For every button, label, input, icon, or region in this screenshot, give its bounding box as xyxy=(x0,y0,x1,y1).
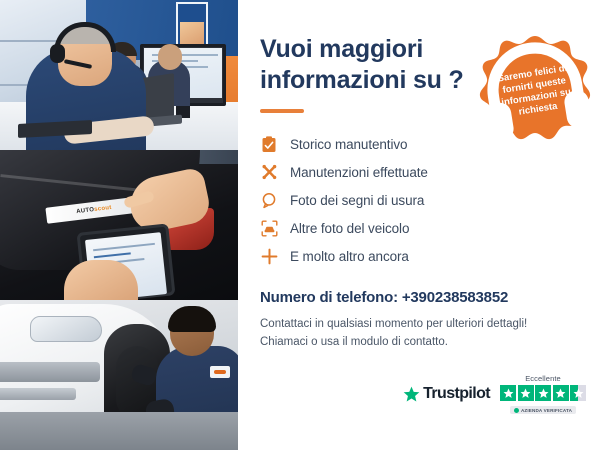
page-title-line-2: informazioni su ? xyxy=(260,66,464,94)
phone-label: Numero di telefono: xyxy=(260,289,402,306)
rating-star-4 xyxy=(553,385,569,401)
rating-star-1 xyxy=(500,385,516,401)
plus-icon xyxy=(260,247,278,265)
verified-business-badge: AZIENDA VERIFICATA xyxy=(510,406,576,414)
title-divider xyxy=(260,109,304,113)
mechanic-wheel-photo xyxy=(0,300,238,450)
feature-label: E molto altro ancora xyxy=(290,249,409,264)
agent-headset-cup xyxy=(50,44,65,63)
mechanic-uniform-badge xyxy=(210,366,230,378)
photo-column: AUTOscout xyxy=(0,0,238,450)
sticker-label: AUTOscout xyxy=(76,205,112,215)
car-grille-lower xyxy=(0,388,76,400)
crossed-tools-icon xyxy=(260,163,278,181)
trustpilot-stars xyxy=(500,385,586,401)
feature-list: Storico manutentivo Manutenzioni effettu… xyxy=(260,135,578,265)
feature-item-foto-usura[interactable]: Foto dei segni di usura xyxy=(260,191,578,209)
trustpilot-rating-label: Eccellente xyxy=(525,374,561,383)
call-center-photo xyxy=(0,0,238,150)
rating-star-3 xyxy=(535,385,551,401)
feature-item-altre-foto[interactable]: Altre foto del veicolo xyxy=(260,219,578,237)
starburst-badge: Saremo felici di fornirti queste informa… xyxy=(479,34,591,146)
trustpilot-logo: Trustpilot xyxy=(403,385,490,403)
verified-business-label: AZIENDA VERIFICATA xyxy=(521,408,572,413)
phone-line: Numero di telefono: +390238583852 xyxy=(260,289,578,306)
phone-number[interactable]: +390238583852 xyxy=(402,289,508,306)
feature-label: Manutenzioni effettuate xyxy=(290,165,428,180)
contact-subtext-line-1: Contattaci in qualsiasi momento per ulte… xyxy=(260,316,578,334)
rating-star-2 xyxy=(518,385,534,401)
trustpilot-star-icon xyxy=(403,386,420,403)
trustpilot-wordmark: Trustpilot xyxy=(423,385,490,403)
magnifier-icon xyxy=(260,191,278,209)
feature-label: Altre foto del veicolo xyxy=(290,221,409,236)
background-colleague-2-head xyxy=(158,44,182,70)
rating-star-5-half xyxy=(570,385,586,401)
car-grille-upper xyxy=(0,362,100,382)
page-title: Vuoi maggiori informazioni su ? xyxy=(260,34,470,95)
workshop-floor xyxy=(0,412,238,450)
page-title-line-1: Vuoi maggiori xyxy=(260,35,423,63)
contact-subtext-line-2: Chiamaci o usa il modulo di contatto. xyxy=(260,334,578,352)
mechanic-hair xyxy=(168,306,216,332)
trustpilot-widget[interactable]: Trustpilot Eccellente AZIENDA VERIFICATA xyxy=(403,374,586,414)
car-inspection-photo: AUTOscout xyxy=(0,150,238,300)
promo-card: AUTOscout xyxy=(0,0,600,450)
car-scan-icon xyxy=(260,219,278,237)
feature-item-altro[interactable]: E molto altro ancora xyxy=(260,247,578,265)
feature-label: Foto dei segni di usura xyxy=(290,193,424,208)
car-headlight xyxy=(30,316,102,342)
feature-item-manutenzioni[interactable]: Manutenzioni effettuate xyxy=(260,163,578,181)
contact-subtext: Contattaci in qualsiasi momento per ulte… xyxy=(260,316,578,352)
content-panel: Vuoi maggiori informazioni su ? Saremo f… xyxy=(238,0,600,450)
feature-label: Storico manutentivo xyxy=(290,137,407,152)
contact-block: Numero di telefono: +390238583852 Contat… xyxy=(260,289,578,352)
verified-check-icon xyxy=(514,408,519,413)
trustpilot-rating: Eccellente AZIENDA VERIFICATA xyxy=(500,374,586,414)
headset-icon xyxy=(471,26,599,154)
inspector-hand-lower xyxy=(64,260,138,300)
badge-content: Saremo felici di fornirti queste informa… xyxy=(471,26,599,154)
clipboard-check-icon xyxy=(260,135,278,153)
